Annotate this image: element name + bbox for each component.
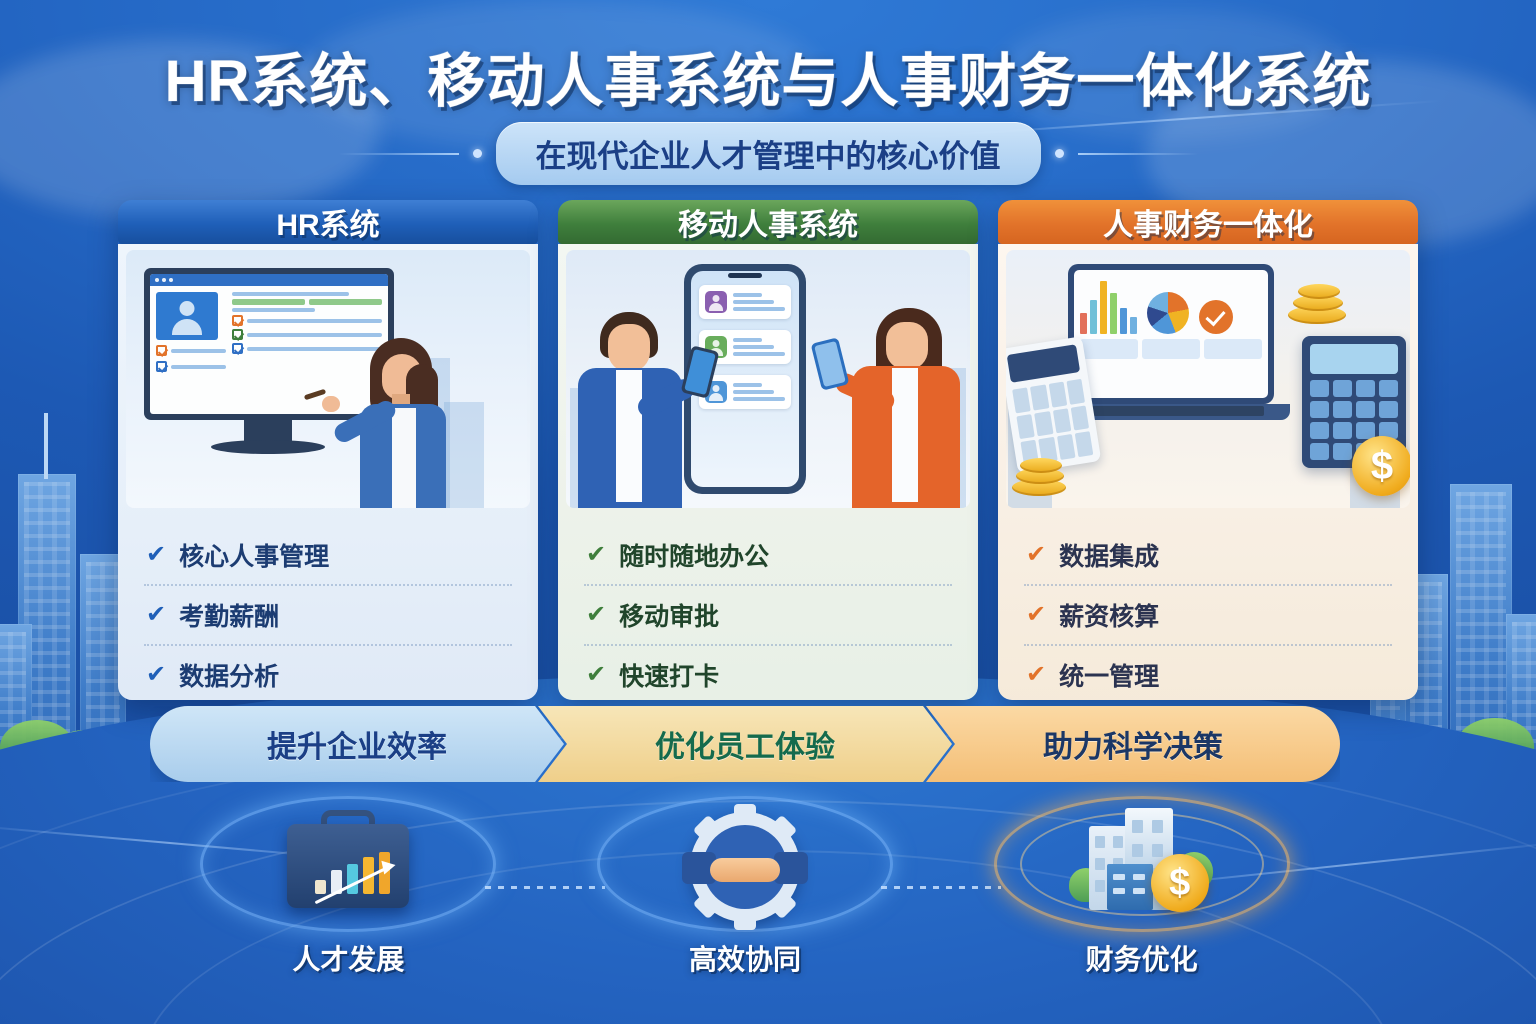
check-icon: ✔ bbox=[586, 663, 606, 687]
subtitle-dot-right bbox=[1055, 149, 1064, 158]
bullet-item: ✔ 数据分析 bbox=[144, 644, 512, 700]
bullet-label: 随时随地办公 bbox=[619, 537, 769, 573]
bullet-item: ✔ 快速打卡 bbox=[584, 644, 952, 700]
check-icon: ✔ bbox=[586, 543, 606, 567]
bullet-item: ✔ 核心人事管理 bbox=[144, 526, 512, 584]
pillar-talent-growth[interactable]: 人才发展 bbox=[150, 790, 547, 1000]
bullet-list-hr-system: ✔ 核心人事管理 ✔ 考勤薪酬 ✔ 数据分析 bbox=[118, 508, 538, 700]
check-icon: ✔ bbox=[146, 543, 166, 567]
briefcase-body bbox=[287, 824, 409, 908]
contact-card bbox=[699, 375, 791, 409]
check-icon: ✔ bbox=[586, 603, 606, 627]
bullet-item: ✔ 随时随地办公 bbox=[584, 526, 952, 584]
laptop-keyboard bbox=[1078, 406, 1264, 416]
coin-stack-icon bbox=[1012, 446, 1082, 496]
bullet-list-mobile-hr-system: ✔ 随时随地办公 ✔ 移动审批 ✔ 快速打卡 bbox=[558, 508, 978, 700]
pillar-finance-optimize[interactable]: $ 财务优化 bbox=[943, 790, 1340, 1000]
illustration-desktop-hr-dashboard bbox=[126, 250, 530, 508]
businessman-figure bbox=[574, 312, 692, 508]
page-subtitle: 在现代企业人才管理中的核心价值 bbox=[496, 122, 1041, 185]
bullet-label: 移动审批 bbox=[619, 597, 719, 633]
banner-experience[interactable]: 优化员工体验 bbox=[538, 706, 952, 782]
bullet-label: 数据分析 bbox=[179, 657, 279, 693]
card-title-hr-finance-integration: 人事财务一体化 bbox=[998, 200, 1418, 244]
bullet-list-hr-finance-integration: ✔ 数据集成 ✔ 薪资核算 ✔ 统一管理 bbox=[998, 508, 1418, 700]
illustration-finance-analytics: $ bbox=[1006, 250, 1410, 508]
check-icon: ✔ bbox=[1026, 603, 1046, 627]
bullet-label: 统一管理 bbox=[1059, 657, 1159, 693]
bullet-label: 数据集成 bbox=[1059, 537, 1159, 573]
card-mobile-hr-system[interactable]: 移动人事系统 bbox=[558, 200, 978, 700]
subtitle-rule-left bbox=[339, 153, 459, 155]
banner-decision[interactable]: 助力科学决策 bbox=[926, 706, 1340, 782]
subtitle-row: 在现代企业人才管理中的核心价值 bbox=[0, 122, 1536, 185]
bar-chart-icon bbox=[1080, 276, 1137, 334]
bullet-item: ✔ 数据集成 bbox=[1024, 526, 1392, 584]
monitor-base bbox=[211, 440, 325, 454]
bullet-item: ✔ 考勤薪酬 bbox=[144, 584, 512, 644]
card-hr-system[interactable]: HR系统 bbox=[118, 200, 538, 700]
bullet-item: ✔ 移动审批 bbox=[584, 584, 952, 644]
check-icon: ✔ bbox=[1026, 543, 1046, 567]
dollar-coin-icon: $ bbox=[1151, 854, 1209, 912]
buildings-dollar-coin-icon: $ bbox=[1067, 806, 1217, 922]
pillar-label: 人才发展 bbox=[292, 938, 404, 978]
pillars-row: 人才发展 高效协同 bbox=[150, 790, 1340, 1000]
check-icon: ✔ bbox=[1026, 663, 1046, 687]
pillar-label: 财务优化 bbox=[1086, 938, 1198, 978]
dashboard-charts bbox=[1080, 276, 1262, 334]
businesswoman-figure bbox=[348, 338, 466, 508]
check-icon: ✔ bbox=[146, 603, 166, 627]
handshake-icon bbox=[682, 850, 808, 890]
handshake-gear-icon bbox=[670, 806, 820, 922]
coin-stack-icon bbox=[1288, 268, 1366, 324]
bullet-label: 考勤薪酬 bbox=[179, 597, 279, 633]
dollar-coin-icon: $ bbox=[1352, 436, 1410, 496]
contact-card bbox=[699, 285, 791, 319]
illustration-mobile-collaboration bbox=[566, 250, 970, 508]
clasped-hands bbox=[710, 858, 780, 882]
pillar-label: 高效协同 bbox=[689, 938, 801, 978]
monitor-stand bbox=[244, 420, 292, 442]
check-badge-icon bbox=[1199, 300, 1233, 334]
subtitle-rule-right bbox=[1078, 153, 1198, 155]
avatar bbox=[705, 291, 727, 313]
pie-chart-icon bbox=[1147, 292, 1189, 334]
laptop-icon bbox=[1068, 264, 1274, 404]
infographic-canvas: HR系统、移动人事系统与人事财务一体化系统 在现代企业人才管理中的核心价值 HR… bbox=[0, 0, 1536, 1024]
kpi-row bbox=[1080, 339, 1262, 359]
card-title-mobile-hr-system: 移动人事系统 bbox=[558, 200, 978, 244]
subtitle-dot-left bbox=[473, 149, 482, 158]
avatar bbox=[156, 292, 218, 340]
bullet-item: ✔ 统一管理 bbox=[1024, 644, 1392, 700]
bullet-item: ✔ 薪资核算 bbox=[1024, 584, 1392, 644]
briefcase-growth-chart-icon bbox=[273, 806, 423, 922]
bullet-label: 快速打卡 bbox=[619, 657, 719, 693]
benefit-banner-row: 提升企业效率 优化员工体验 助力科学决策 bbox=[150, 706, 1340, 782]
page-title: HR系统、移动人事系统与人事财务一体化系统 bbox=[0, 34, 1536, 118]
bullet-label: 核心人事管理 bbox=[179, 537, 329, 573]
card-title-hr-system: HR系统 bbox=[118, 200, 538, 244]
cards-row: HR系统 bbox=[118, 200, 1418, 700]
businesswoman-figure bbox=[840, 308, 962, 508]
pillar-efficient-synergy[interactable]: 高效协同 bbox=[547, 790, 944, 1000]
banner-efficiency[interactable]: 提升企业效率 bbox=[150, 706, 564, 782]
bullet-label: 薪资核算 bbox=[1059, 597, 1159, 633]
card-hr-finance-integration[interactable]: 人事财务一体化 bbox=[998, 200, 1418, 700]
building-spire bbox=[44, 413, 48, 479]
building-shape bbox=[1107, 864, 1153, 910]
check-icon: ✔ bbox=[146, 663, 166, 687]
